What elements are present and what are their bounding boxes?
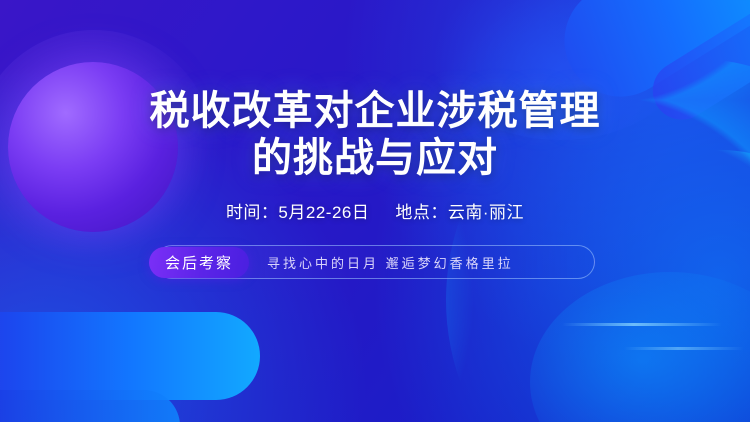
event-time: 时间：5月22-26日 bbox=[226, 198, 369, 223]
event-place: 地点：云南·丽江 bbox=[395, 198, 524, 223]
title-line-1: 税收改革对企业涉税管理 bbox=[150, 89, 601, 133]
post-tour-tag: 会后考察 bbox=[149, 247, 249, 278]
page-title: 税收改革对企业涉税管理 的挑战与应对 bbox=[150, 88, 601, 182]
post-tour-text: 寻找心中的日月 邂逅梦幻香格里拉 bbox=[267, 253, 514, 272]
poster-content: 税收改革对企业涉税管理 的挑战与应对 时间：5月22-26日 地点：云南·丽江 … bbox=[0, 0, 750, 422]
poster-canvas: 税收改革对企业涉税管理 的挑战与应对 时间：5月22-26日 地点：云南·丽江 … bbox=[0, 0, 750, 422]
post-tour-strip: 会后考察 寻找心中的日月 邂逅梦幻香格里拉 bbox=[155, 245, 595, 279]
event-meta: 时间：5月22-26日 地点：云南·丽江 bbox=[226, 198, 524, 223]
title-line-2: 的挑战与应对 bbox=[150, 135, 601, 182]
